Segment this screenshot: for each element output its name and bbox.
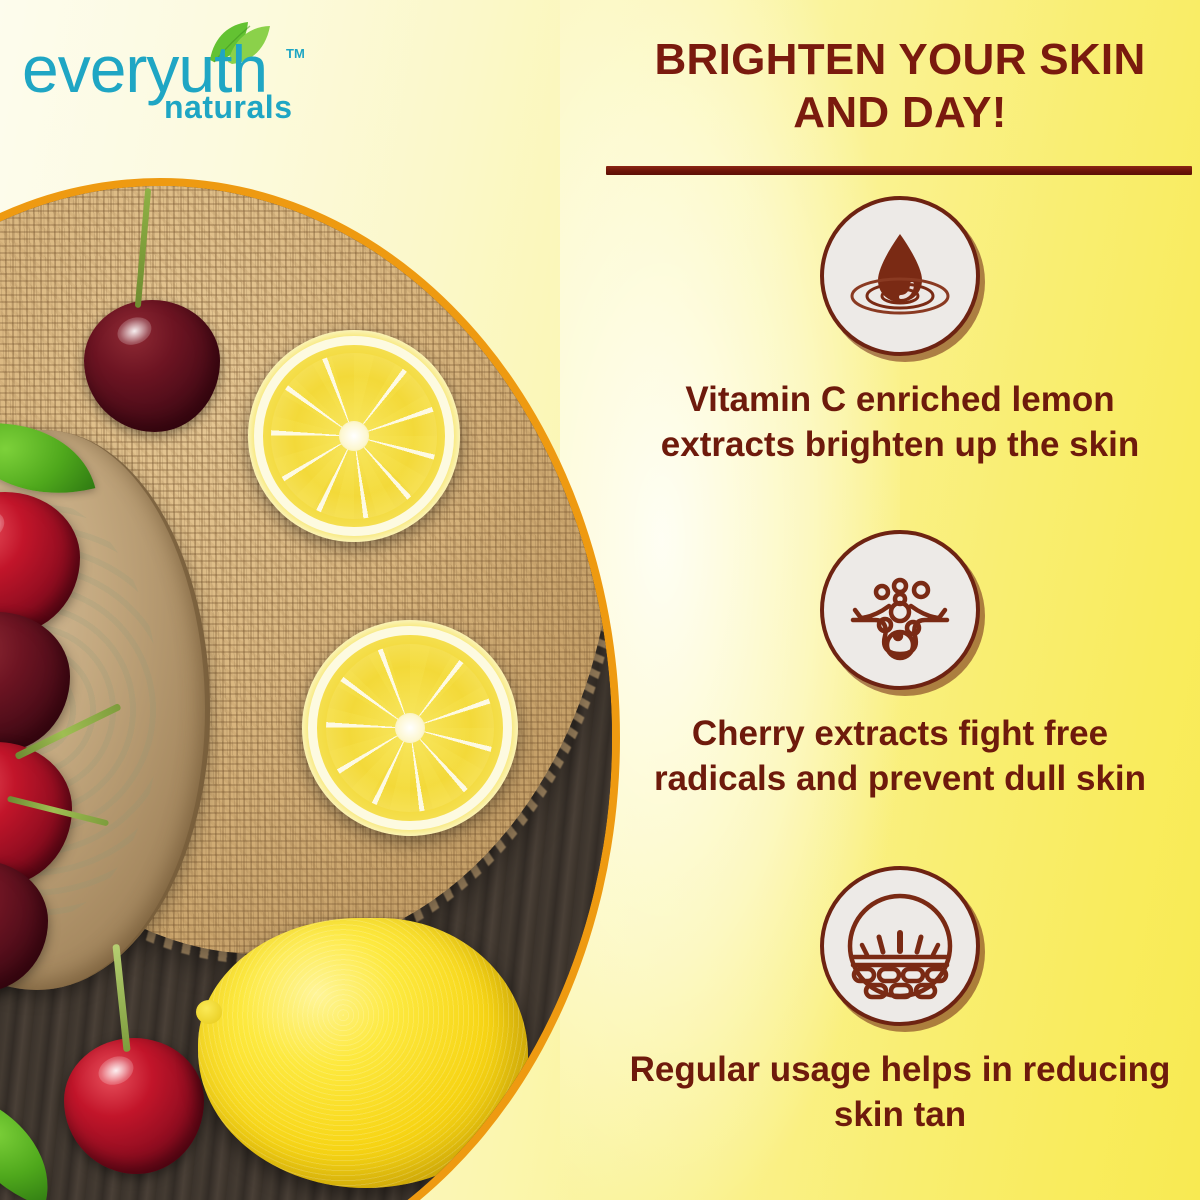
benefit-text: Regular usage helps in reducing skin tan <box>600 1048 1200 1138</box>
fruit-photo <box>0 186 612 1200</box>
water-droplet-ripple-icon <box>820 196 980 356</box>
skin-layers-cross-section-icon <box>820 866 980 1026</box>
pore-particles-arrows-icon <box>820 530 980 690</box>
lemon-slice <box>248 330 460 542</box>
headline-divider <box>606 166 1192 175</box>
photo-clip-mask <box>0 186 612 1200</box>
svg-text:naturals: naturals <box>164 89 292 124</box>
lemon-stem-nub <box>196 1000 222 1024</box>
svg-text:TM: TM <box>286 46 305 61</box>
benefit-text: Cherry extracts fight free radicals and … <box>600 712 1200 802</box>
headline-line-1: BRIGHTEN YOUR SKIN <box>600 34 1200 87</box>
lemon-slice <box>302 620 518 836</box>
whole-lemon <box>198 918 528 1188</box>
page-title: BRIGHTEN YOUR SKIN AND DAY! <box>600 34 1200 140</box>
product-photo-panel <box>0 0 640 1200</box>
benefit-text: Vitamin C enriched lemon extracts bright… <box>600 378 1200 468</box>
benefit-item: Regular usage helps in reducing skin tan <box>600 866 1200 1138</box>
promo-poster: everyuth naturals TM BRIGHTEN YOUR SKIN … <box>0 0 1200 1200</box>
benefits-column: BRIGHTEN YOUR SKIN AND DAY! Vitamin C en… <box>600 0 1200 1200</box>
benefit-item: Vitamin C enriched lemon extracts bright… <box>600 196 1200 468</box>
benefit-item: Cherry extracts fight free radicals and … <box>600 530 1200 802</box>
brand-logo[interactable]: everyuth naturals TM <box>14 14 314 124</box>
headline-line-2: AND DAY! <box>600 87 1200 140</box>
